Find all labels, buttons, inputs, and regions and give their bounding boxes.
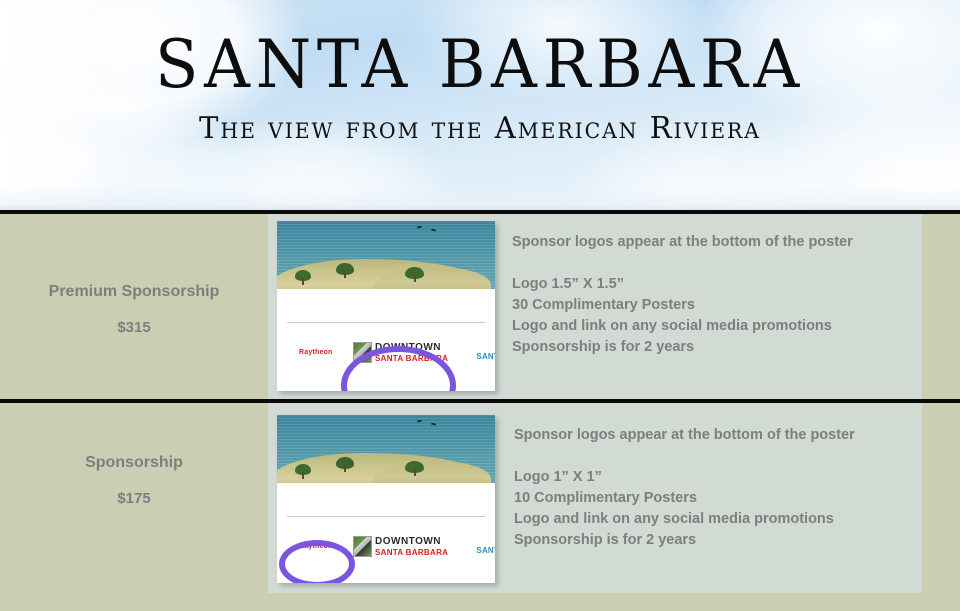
page-subtitle: The view from the American Riviera	[14, 110, 945, 148]
tree-icon	[405, 461, 424, 473]
poster-logo-row: Raytheon DOWNTOWN SANTA BARBARA SANT	[277, 517, 495, 583]
tier-benefits-standard: Sponsor logos appear at the bottom of th…	[514, 425, 855, 551]
tree-icon	[295, 270, 311, 281]
tree-icon	[336, 457, 354, 469]
downtown-wordmark-bottom: SANTA BARBARA	[375, 549, 448, 557]
tier-name: Sponsorship	[0, 453, 268, 473]
downtown-mark-icon	[353, 536, 372, 557]
raytheon-logo: Raytheon	[299, 543, 333, 550]
downtown-wordmark-top: DOWNTOWN	[375, 343, 448, 353]
tier-row-standard: Sponsorship $175 Raytheon	[0, 403, 960, 611]
tier-benefit-item: 10 Complimentary Posters	[514, 488, 855, 509]
downtown-wordmark-top: DOWNTOWN	[375, 537, 448, 547]
tier-name: Premium Sponsorship	[0, 282, 268, 302]
tier-row-premium: Premium Sponsorship $315 Raytheon	[0, 214, 960, 399]
downtown-wordmark: DOWNTOWN SANTA BARBARA	[375, 537, 448, 557]
tree-icon	[405, 267, 424, 279]
title-block: SANTA BARBARA The view from the American…	[0, 26, 960, 148]
header-banner: SANTA BARBARA The view from the American…	[0, 0, 960, 212]
page-title: SANTA BARBARA	[19, 26, 941, 104]
poster-photo	[277, 415, 495, 483]
downtown-santa-barbara-logo: DOWNTOWN SANTA BARBARA	[353, 342, 448, 363]
partial-sponsor-logo: SANT	[476, 546, 495, 555]
tier-price: $175	[0, 489, 268, 509]
raytheon-logo: Raytheon	[299, 349, 333, 356]
partial-sponsor-logo: SANT	[476, 352, 495, 361]
tier-benefit-item: Logo 1.5” X 1.5”	[512, 274, 853, 295]
tier-benefit-item: 30 Complimentary Posters	[512, 295, 853, 316]
tier-lead-text: Sponsor logos appear at the bottom of th…	[512, 232, 853, 253]
downtown-santa-barbara-logo: DOWNTOWN SANTA BARBARA	[353, 536, 448, 557]
poster-thumbnail-premium[interactable]: Raytheon DOWNTOWN SANTA BARBARA SANT	[277, 221, 495, 391]
poster-thumbnail-standard[interactable]: Raytheon DOWNTOWN SANTA BARBARA SANT	[277, 415, 495, 583]
poster-photo	[277, 221, 495, 289]
tier-benefit-item: Sponsorship is for 2 years	[514, 530, 855, 551]
tier-benefits-premium: Sponsor logos appear at the bottom of th…	[512, 232, 853, 358]
tier-benefit-item: Logo 1” X 1”	[514, 467, 855, 488]
tier-benefit-item: Logo and link on any social media promot…	[514, 509, 855, 530]
tier-benefit-item: Sponsorship is for 2 years	[512, 337, 853, 358]
tree-icon	[295, 464, 311, 475]
tree-icon	[336, 263, 354, 275]
tier-benefit-item: Logo and link on any social media promot…	[512, 316, 853, 337]
poster-caption-area	[277, 483, 495, 517]
downtown-mark-icon	[353, 342, 372, 363]
tier-summary-premium: Premium Sponsorship $315	[0, 214, 268, 338]
poster-logo-row: Raytheon DOWNTOWN SANTA BARBARA SANT	[277, 323, 495, 389]
tier-price: $315	[0, 318, 268, 338]
tier-lead-text: Sponsor logos appear at the bottom of th…	[514, 425, 855, 446]
downtown-wordmark: DOWNTOWN SANTA BARBARA	[375, 343, 448, 363]
banner-cloud-bottom	[0, 186, 960, 212]
poster-caption-area	[277, 289, 495, 323]
downtown-wordmark-bottom: SANTA BARBARA	[375, 355, 448, 363]
sponsorship-page: SANTA BARBARA The view from the American…	[0, 0, 960, 611]
tier-summary-standard: Sponsorship $175	[0, 403, 268, 509]
